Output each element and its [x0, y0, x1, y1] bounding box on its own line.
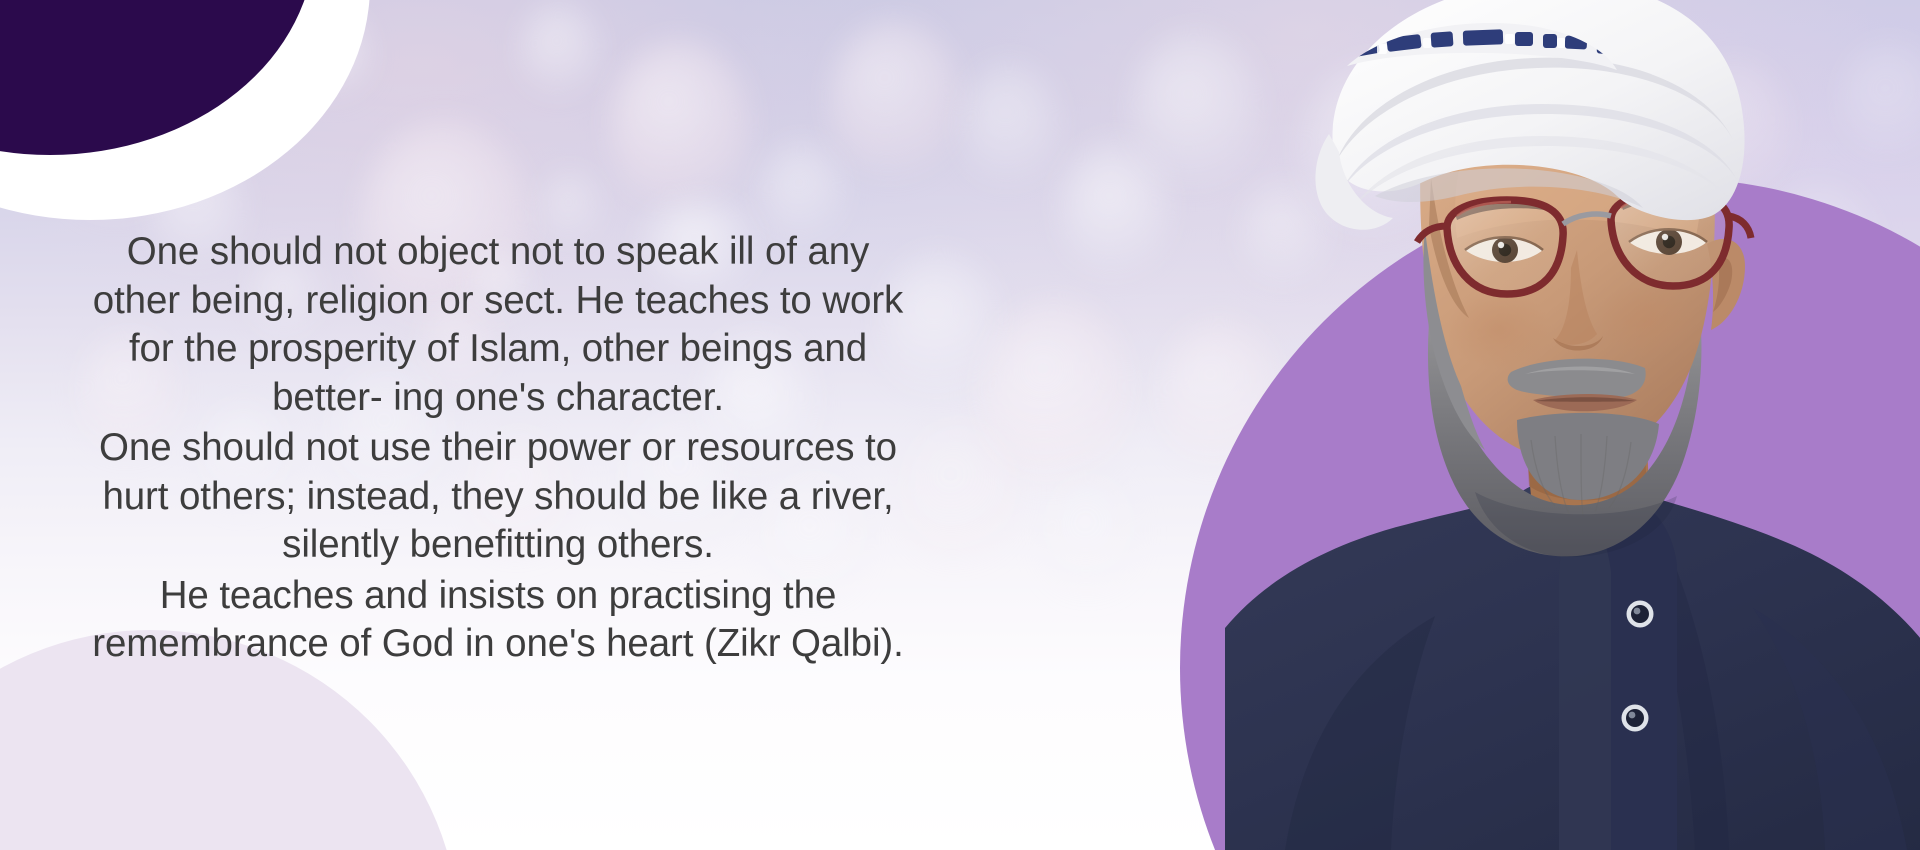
scholar-portrait: [1225, 0, 1920, 850]
kurta-button-bottom: [1622, 705, 1649, 732]
quote-text-block: One should not object not to speak ill o…: [78, 228, 918, 669]
quote-paragraph-1: One should not object not to speak ill o…: [78, 228, 918, 422]
quote-paragraph-2: One should not use their power or resour…: [78, 424, 918, 570]
slide-canvas: One should not object not to speak ill o…: [0, 0, 1920, 850]
kurta-button-top: [1627, 601, 1654, 628]
quote-paragraph-3: He teaches and insists on practising the…: [78, 572, 918, 669]
